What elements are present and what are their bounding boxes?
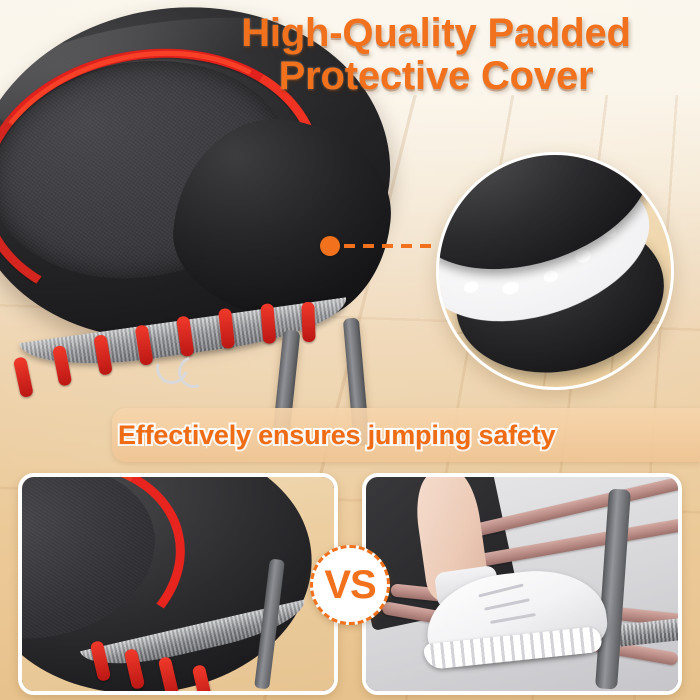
bungee-sleeve — [260, 303, 276, 344]
bungee-sleeve — [301, 302, 315, 342]
bungee-sleeve — [13, 356, 34, 398]
vs-badge-label: VS — [310, 545, 390, 625]
bungee-sleeve — [218, 308, 235, 349]
vs-badge: VS — [310, 545, 390, 625]
padding-detail-callout — [436, 152, 674, 390]
callout-origin-dot — [320, 236, 340, 256]
bungee-sleeve — [176, 316, 194, 357]
panel-without-cover — [362, 473, 682, 695]
headline: High-Quality Padded Protective Cover — [178, 12, 694, 98]
bungee-sleeve — [52, 345, 72, 387]
product-infographic-poster: High-Quality Padded Protective Cover Eff… — [0, 0, 700, 700]
bungee-sleeve — [135, 324, 154, 366]
headline-line-1: High-Quality Padded — [241, 11, 631, 55]
headline-line-2: Protective Cover — [178, 55, 694, 98]
panel-with-cover — [18, 473, 338, 695]
bungee-sleeve — [93, 334, 113, 376]
subtitle-text: Effectively ensures jumping safety — [118, 414, 678, 456]
